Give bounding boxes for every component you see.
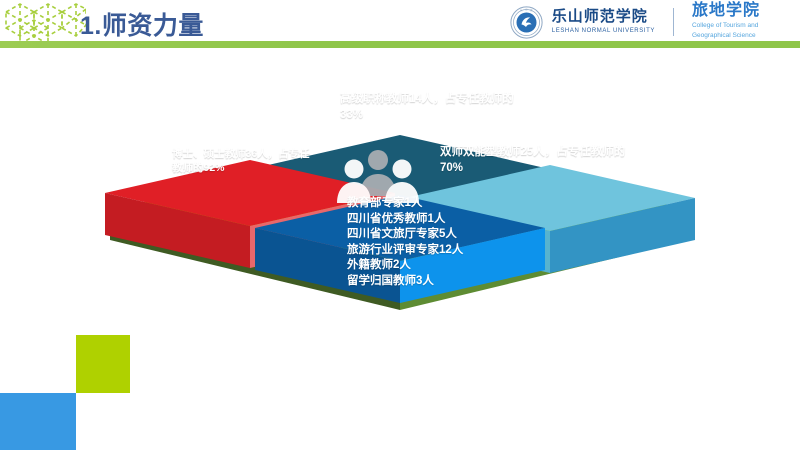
- label-senior-title: 高级职称教师14人，占专任教师的33%: [340, 92, 520, 123]
- experts-line-2: 四川省优秀教师1人: [347, 212, 557, 228]
- experts-line-1: 教育部专家1人: [347, 196, 557, 212]
- university-seal-icon: 乐山师: [510, 6, 543, 39]
- college-name-cn: 旅地学院: [692, 3, 760, 20]
- experts-line-5: 外籍教师2人: [347, 258, 557, 274]
- branding-logo: 乐山师 乐山师范学院 LESHAN NORMAL UNIVERSITY 旅地学院…: [510, 4, 760, 40]
- experts-line-3: 四川省文旅厅专家5人: [347, 227, 557, 243]
- header-accent-bar: [0, 41, 800, 48]
- experts-line-4: 旅游行业评审专家12人: [347, 243, 557, 259]
- slide-root: 1.师资力量 乐山师 乐山师范学院 LESHAN NORMAL UNIVERSI…: [0, 0, 800, 450]
- university-name-cn: 乐山师范学院: [552, 10, 655, 25]
- label-experts-list: 教育部专家1人 四川省优秀教师1人 四川省文旅厅专家5人 旅游行业评审专家12人…: [347, 196, 557, 289]
- college-name-en-line2: Geographical Science: [692, 32, 760, 40]
- page-title: 1.师资力量: [80, 6, 204, 42]
- experts-line-6: 留学归国教师3人: [347, 274, 557, 290]
- label-degrees: 博士、硕士教师36人，占专任教师的92%: [172, 147, 320, 175]
- decor-square-blue: [0, 393, 76, 450]
- university-name-en: LESHAN NORMAL UNIVERSITY: [552, 28, 655, 34]
- decor-square-green: [76, 335, 130, 393]
- slide-header: 1.师资力量 乐山师 乐山师范学院 LESHAN NORMAL UNIVERSI…: [0, 0, 800, 48]
- hexagon-lattice-icon: [2, 0, 86, 46]
- label-dual-qualified: 双师双能型教师25人，占专任教师的70%: [440, 145, 630, 176]
- college-name-en-line1: College of Tourism and: [692, 22, 760, 30]
- logo-divider: [673, 8, 674, 36]
- svg-text:师: 师: [530, 8, 533, 12]
